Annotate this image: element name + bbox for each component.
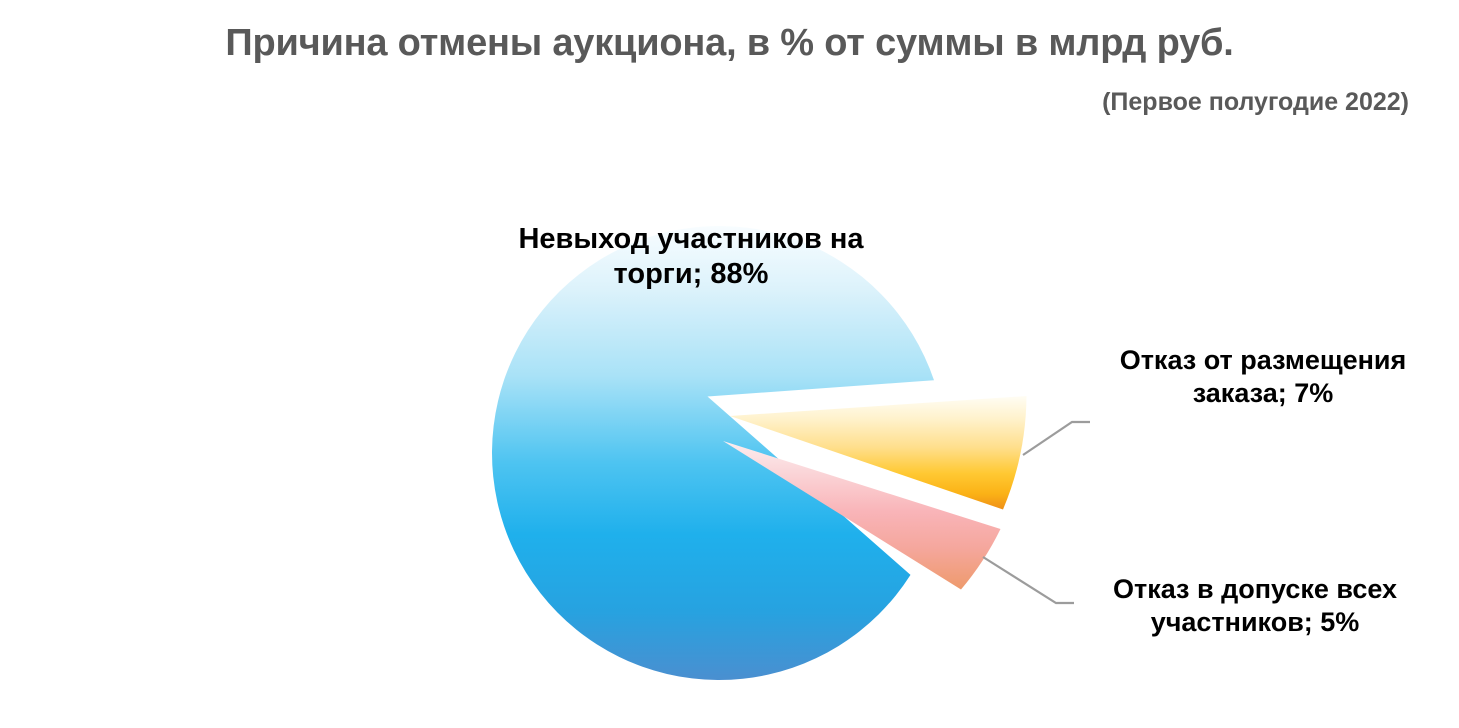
slice-label-nevyhod: Невыход участников на торги; 88% [476,222,906,293]
slice-label-otkaz-razmeshcheniya: Отказ от размещения заказа; 7% [1078,344,1448,410]
slice-label-otkaz-dopuske: Отказ в допуске всех участников; 5% [1060,573,1450,639]
leader-line-yellow [1023,422,1090,455]
pie-chart-figure: Причина отмены аукциона, в % от суммы в … [0,0,1459,728]
